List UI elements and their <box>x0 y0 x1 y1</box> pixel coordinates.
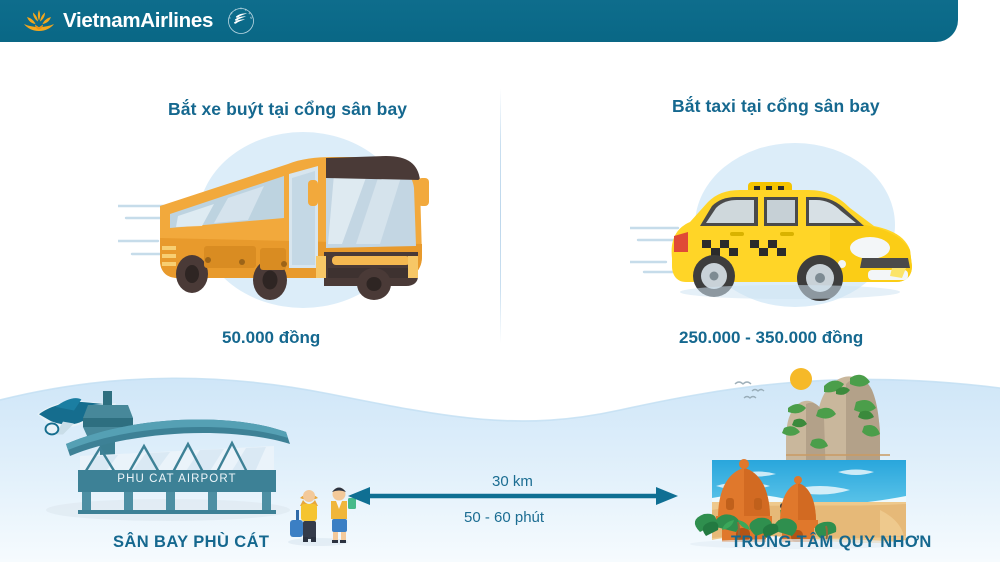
taxi-column-title: Bắt taxi tại cổng sân bay <box>672 96 880 117</box>
brand-logo: VietnamAirlines S K Y T E A M <box>22 6 256 36</box>
taxi-illustration <box>630 140 950 315</box>
taxi-price: 250.000 - 350.000 đồng <box>679 328 863 348</box>
brand-name: VietnamAirlines <box>63 9 213 33</box>
bus-icon <box>118 128 458 318</box>
infographic-canvas: VietnamAirlines S K Y T E A M <box>0 0 1000 562</box>
svg-text:E: E <box>245 8 248 12</box>
skyteam-icon: S K Y T E A M <box>226 6 256 36</box>
origin-label: SÂN BAY PHÙ CÁT <box>113 533 269 552</box>
bus-price: 50.000 đồng <box>222 328 320 348</box>
taxi-icon <box>630 140 950 315</box>
header-bar: VietnamAirlines S K Y T E A M <box>0 0 958 42</box>
bus-column-title: Bắt xe buýt tại cổng sân bay <box>168 99 407 120</box>
column-divider <box>500 88 501 344</box>
lotus-icon <box>22 8 56 34</box>
airport-building-text: PHU CAT AIRPORT <box>117 473 236 485</box>
distance-value: 30 km <box>492 473 533 490</box>
svg-text:T: T <box>240 6 242 10</box>
route-scene: PHU CAT AIRPORT <box>0 360 1000 562</box>
destination-label: TRUNG TÂM QUY NHƠN <box>731 533 932 552</box>
duration-value: 50 - 60 phút <box>464 509 544 526</box>
svg-text:Y: Y <box>234 7 237 12</box>
sun-icon <box>790 368 812 390</box>
scene-illustration: PHU CAT AIRPORT <box>0 360 1000 562</box>
bus-illustration <box>118 128 458 318</box>
